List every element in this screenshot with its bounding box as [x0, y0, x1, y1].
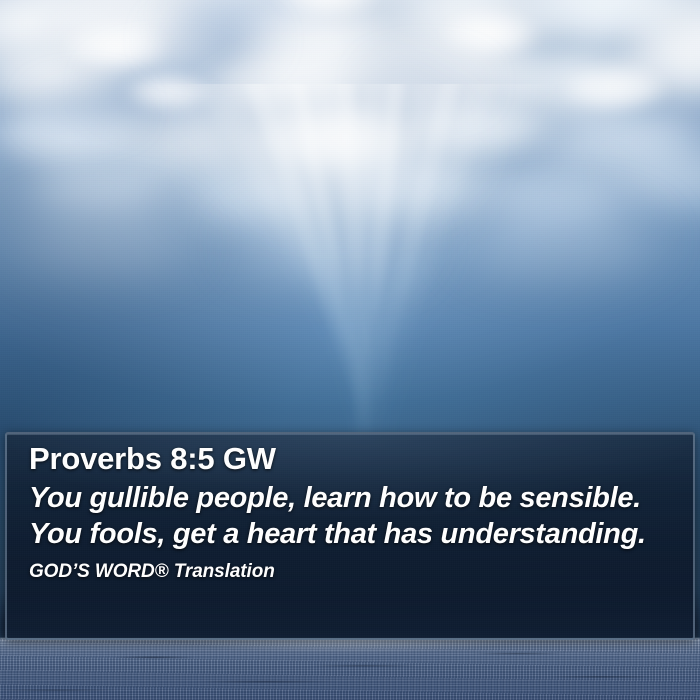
ocean: [0, 639, 700, 700]
verse-card: Proverbs 8:5 GW You gullible people, lea…: [5, 432, 695, 640]
verse-attribution: GOD’S WORD® Translation: [29, 560, 677, 583]
verse-reference: Proverbs 8:5 GW: [29, 441, 677, 477]
verse-image: Proverbs 8:5 GW You gullible people, lea…: [0, 0, 700, 700]
verse-text: You gullible people, learn how to be sen…: [29, 480, 677, 552]
ocean-ripples: [0, 639, 700, 700]
